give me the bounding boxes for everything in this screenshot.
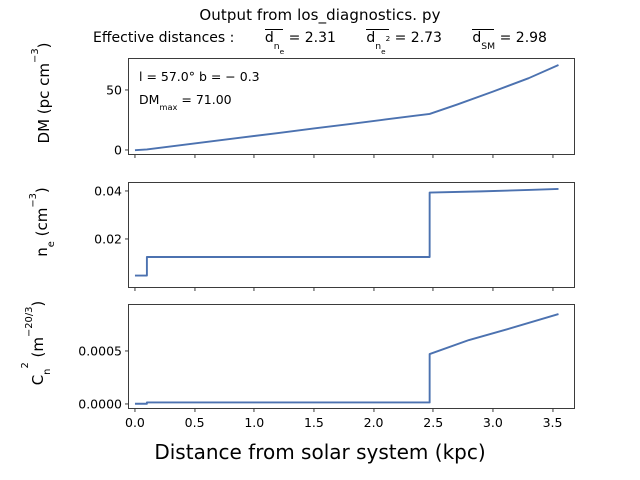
cn2-panel-xtick	[492, 408, 493, 412]
eff-dist-2-value: 2.73	[411, 30, 442, 46]
eff-dist-3-value: 2.98	[516, 30, 547, 46]
dm-panel-axes: l = 57.0° b = − 0.3 DMmax = 71.00 050	[128, 58, 575, 155]
eff-dist-1-value: 2.31	[305, 30, 336, 46]
dm-panel-ytick-label: 50	[106, 83, 122, 98]
ne-panel-ytick-label: 0.02	[94, 232, 122, 247]
x-tick-label: 1.5	[304, 415, 324, 430]
figure-subtitle: Effective distances : dne = 2.31 dne2 = …	[0, 30, 640, 47]
dm-panel-xtick	[254, 154, 255, 158]
ne-panel-ytick-label: 0.04	[94, 184, 122, 199]
x-tick-label: 0.5	[185, 415, 205, 430]
dm-panel-xtick	[492, 154, 493, 158]
cn2-panel-axes: 0.00000.00050.00.51.01.52.02.53.03.5	[128, 304, 575, 409]
cn2-panel-xtick	[552, 408, 553, 412]
dm-panel-xtick	[313, 154, 314, 158]
subtitle-prefix: Effective distances :	[93, 30, 234, 46]
x-tick-label: 2.5	[423, 415, 443, 430]
cn2-panel-xtick	[254, 408, 255, 412]
eff-dist-2-eq: =	[395, 30, 407, 46]
ne-panel-xtick	[433, 287, 434, 291]
cn2-panel-ylabel: Cn2 (m−20/3)	[29, 263, 47, 423]
cn2-panel-data-line	[129, 305, 574, 408]
x-tick-label: 1.0	[244, 415, 264, 430]
ne-panel-xtick	[134, 287, 135, 291]
ne-panel-xtick	[552, 287, 553, 291]
cn2-panel-xtick	[373, 408, 374, 412]
ne-panel-xtick	[313, 287, 314, 291]
cn2-panel-xtick	[194, 408, 195, 412]
dm-panel-xtick	[552, 154, 553, 158]
x-tick-label: 3.5	[543, 415, 563, 430]
eff-dist-3-eq: =	[500, 30, 512, 46]
dm-panel-xtick	[194, 154, 195, 158]
x-axis-label: Distance from solar system (kpc)	[0, 440, 640, 464]
cn2-panel-ytick-label: 0.0000	[78, 396, 122, 411]
x-tick-label: 3.0	[483, 415, 503, 430]
cn2-panel-xtick	[313, 408, 314, 412]
ne-panel-axes: 0.020.04	[128, 182, 575, 288]
x-tick-label: 2.0	[364, 415, 384, 430]
dm-panel-xtick	[433, 154, 434, 158]
x-tick-label: 0.0	[125, 415, 145, 430]
cn2-panel-ytick-label: 0.0005	[78, 343, 122, 358]
ne-panel-xtick	[492, 287, 493, 291]
dm-panel-ytick-label: 0	[114, 143, 122, 158]
dm-panel-xtick	[373, 154, 374, 158]
eff-dist-1-symbol: dne	[265, 30, 284, 47]
eff-dist-3-symbol: dSM	[472, 30, 495, 46]
figure-title: Output from los_diagnostics. py	[0, 6, 640, 24]
cn2-panel-xtick	[134, 408, 135, 412]
ne-panel-xtick	[194, 287, 195, 291]
ne-panel-xtick	[254, 287, 255, 291]
dm-panel-data-line	[129, 59, 574, 154]
cn2-panel-xtick	[433, 408, 434, 412]
eff-dist-1-eq: =	[289, 30, 301, 46]
dm-panel-xtick	[134, 154, 135, 158]
ne-panel-xtick	[373, 287, 374, 291]
eff-dist-2-symbol: dne2	[366, 30, 390, 47]
figure-canvas: Output from los_diagnostics. py Effectiv…	[0, 0, 640, 480]
ne-panel-data-line	[129, 183, 574, 287]
